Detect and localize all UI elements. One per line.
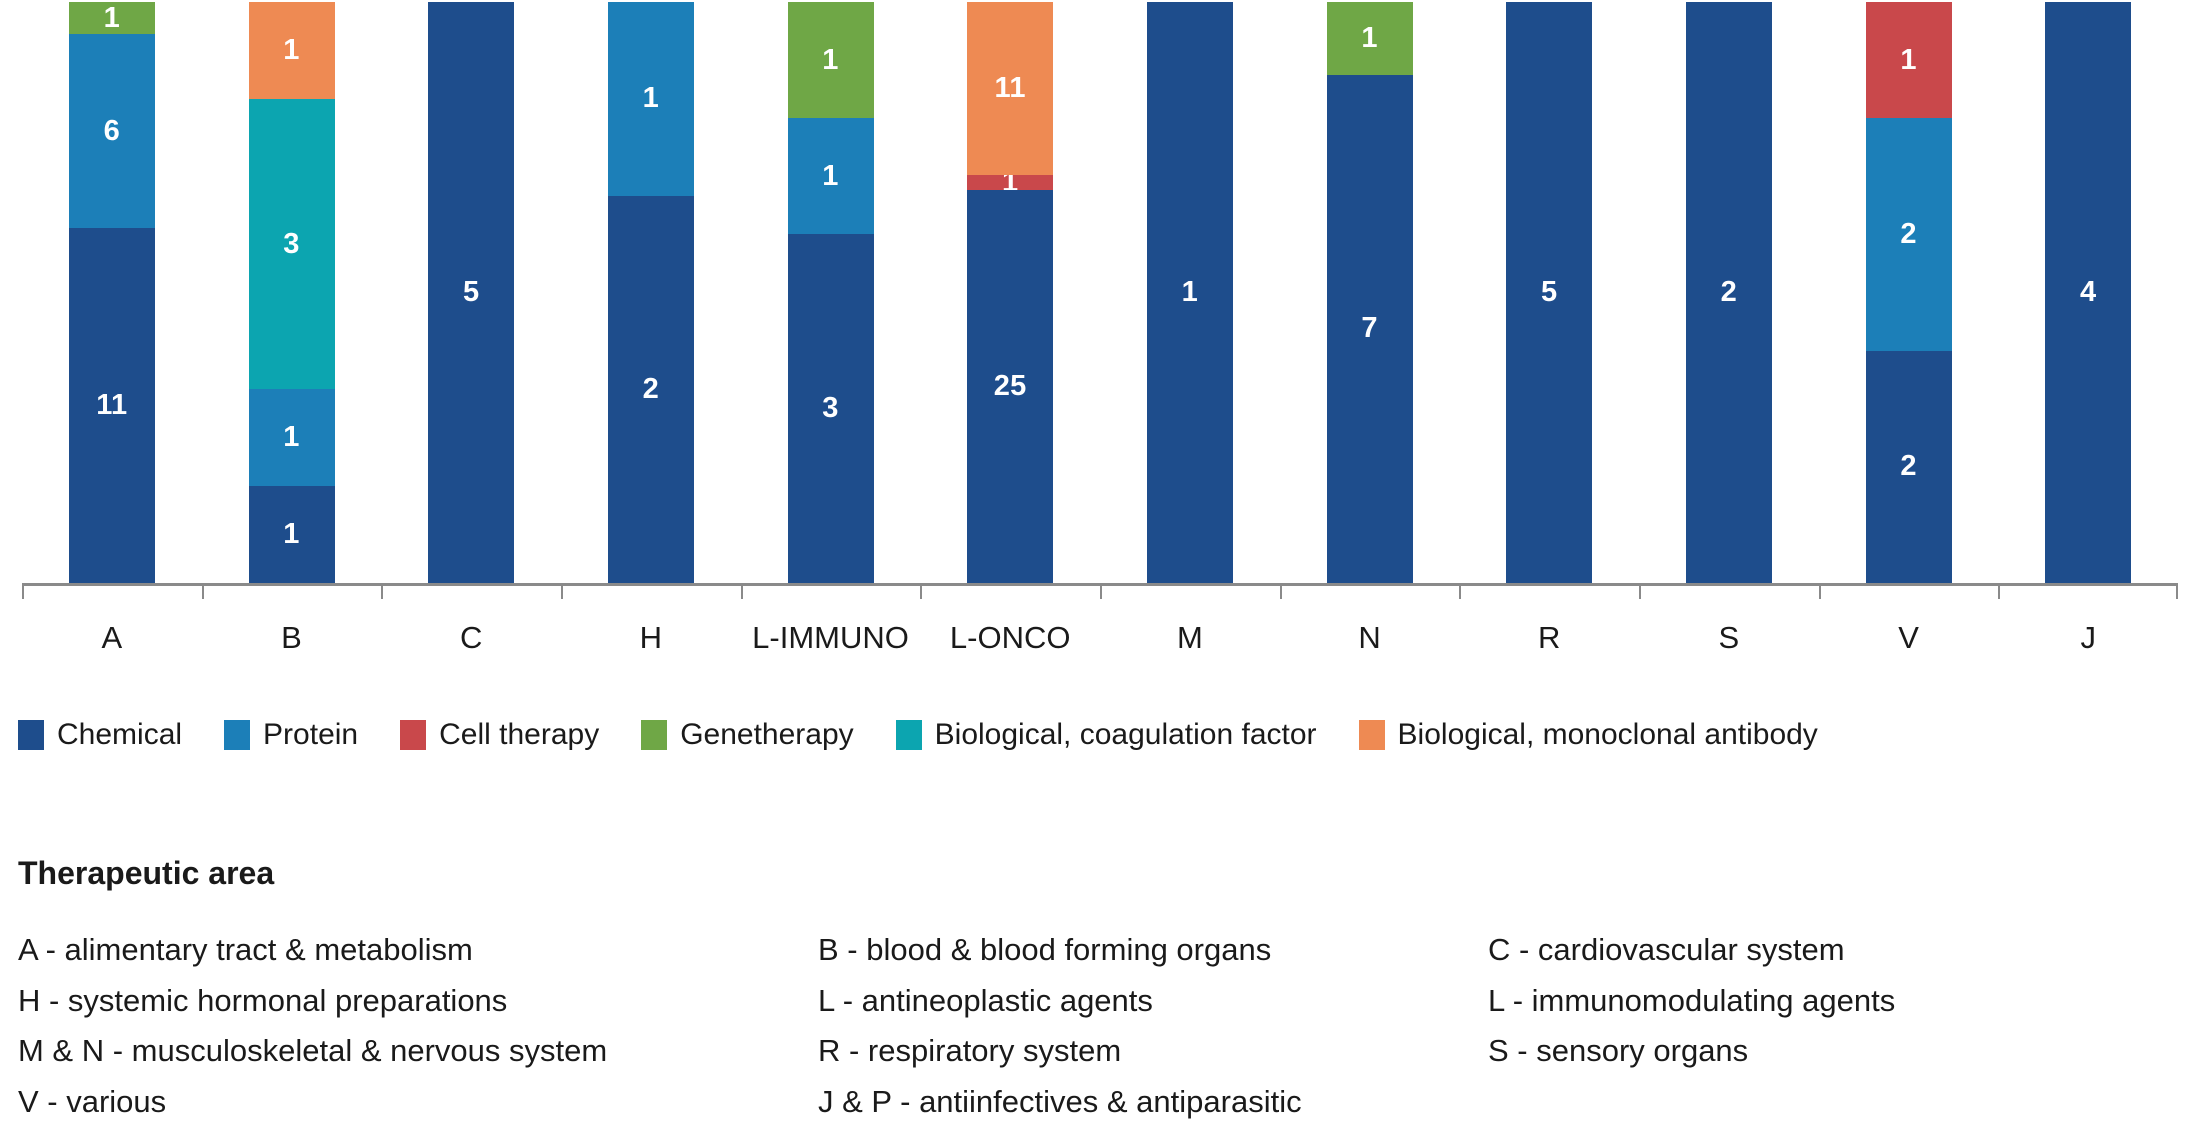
tick-cell (920, 583, 1100, 599)
category-label-c: C (381, 620, 561, 656)
legend-label: Biological, monoclonal antibody (1398, 718, 1818, 752)
tick-mark (1819, 583, 1821, 599)
bar-segment[interactable]: 5 (428, 2, 514, 583)
legend-item[interactable]: Biological, monoclonal antibody (1359, 718, 1818, 752)
tick-cell (202, 583, 382, 599)
tick-cell (1998, 583, 2178, 599)
footnote-entry: S - sensory organs (1488, 1031, 2188, 1071)
tick-mark (1459, 583, 1461, 599)
tick-cell (561, 583, 741, 599)
bar-slot-l-immuno: 113 (741, 2, 921, 583)
tick-mark (1998, 583, 2000, 599)
category-label-j: J (1998, 620, 2178, 656)
bar-slot-v: 122 (1819, 2, 1999, 583)
tick-cell (1639, 583, 1819, 599)
legend-item[interactable]: Cell therapy (400, 718, 599, 752)
stacked-bar-chart: 1611131151211311125117521224 ABCHL-IMMUN… (0, 0, 2200, 600)
bar-segment[interactable]: 2 (1686, 2, 1772, 583)
category-label-b: B (202, 620, 382, 656)
legend-swatch-icon (896, 720, 922, 750)
bar-l-immuno[interactable]: 113 (788, 2, 874, 583)
tick-cell (1819, 583, 1999, 599)
x-axis-ticks (22, 583, 2178, 599)
bar-segment[interactable]: 1 (69, 2, 155, 34)
bar-c[interactable]: 5 (428, 2, 514, 583)
bar-slot-n: 17 (1280, 2, 1460, 583)
footnote-entry: L - antineoplastic agents (818, 981, 1488, 1021)
chart-legend: ChemicalProteinCell therapyGenetherapyBi… (18, 718, 2188, 752)
tick-mark (1639, 583, 1641, 599)
bars-container: 1611131151211311125117521224 (22, 2, 2178, 583)
bar-segment[interactable]: 6 (69, 34, 155, 228)
tick-mark (22, 583, 24, 599)
bar-segment[interactable]: 2 (608, 196, 694, 583)
bar-segment[interactable]: 25 (967, 190, 1053, 583)
bar-segment[interactable]: 1 (1327, 2, 1413, 75)
footnote-entry: M & N - musculoskeletal & nervous system (18, 1031, 818, 1071)
bar-slot-r: 5 (1459, 2, 1639, 583)
bar-v[interactable]: 122 (1866, 2, 1952, 583)
footnote-entry: H - systemic hormonal preparations (18, 981, 818, 1021)
bar-l-onco[interactable]: 11125 (967, 2, 1053, 583)
category-label-n: N (1280, 620, 1460, 656)
bar-slot-c: 5 (381, 2, 561, 583)
bar-segment[interactable]: 1 (249, 389, 335, 486)
legend-label: Protein (263, 718, 358, 752)
tick-cell (381, 583, 561, 599)
footnote-entry: C - cardiovascular system (1488, 930, 2188, 970)
legend-swatch-icon (1359, 720, 1385, 750)
bar-slot-a: 1611 (22, 2, 202, 583)
legend-item[interactable]: Chemical (18, 718, 182, 752)
footnote-entry: L - immunomodulating agents (1488, 981, 2188, 1021)
category-label-a: A (22, 620, 202, 656)
category-label-r: R (1459, 620, 1639, 656)
bar-segment[interactable]: 2 (1866, 118, 1952, 350)
bar-segment[interactable]: 1 (788, 118, 874, 234)
category-label-l-immuno: L-IMMUNO (741, 620, 921, 656)
bar-slot-h: 12 (561, 2, 741, 583)
tick-cell (741, 583, 921, 599)
category-label-s: S (1639, 620, 1819, 656)
bar-b[interactable]: 1311 (249, 2, 335, 583)
bar-segment[interactable]: 5 (1506, 2, 1592, 583)
bar-slot-l-onco: 11125 (920, 2, 1100, 583)
footnote-entry: A - alimentary tract & metabolism (18, 930, 818, 970)
bar-r[interactable]: 5 (1506, 2, 1592, 583)
tick-mark (381, 583, 383, 599)
legend-item[interactable]: Biological, coagulation factor (896, 718, 1317, 752)
tick-mark (1280, 583, 1282, 599)
legend-item[interactable]: Genetherapy (641, 718, 853, 752)
tick-mark (561, 583, 563, 599)
category-label-h: H (561, 620, 741, 656)
bar-slot-m: 1 (1100, 2, 1280, 583)
bar-segment[interactable]: 7 (1327, 75, 1413, 583)
legend-label: Genetherapy (680, 718, 853, 752)
bar-h[interactable]: 12 (608, 2, 694, 583)
bar-slot-b: 1311 (202, 2, 382, 583)
category-label-v: V (1819, 620, 1999, 656)
bar-segment[interactable]: 1 (1866, 2, 1952, 118)
footnote-entry: R - respiratory system (818, 1031, 1488, 1071)
legend-label: Chemical (57, 718, 182, 752)
tick-mark (741, 583, 743, 599)
category-label-l-onco: L-ONCO (920, 620, 1100, 656)
bar-segment[interactable]: 1 (608, 2, 694, 196)
legend-item[interactable]: Protein (224, 718, 358, 752)
bar-segment[interactable]: 3 (249, 99, 335, 390)
tick-cell (1459, 583, 1639, 599)
bar-segment[interactable]: 11 (967, 2, 1053, 175)
bar-segment[interactable]: 2 (1866, 351, 1952, 583)
bar-slot-j: 4 (1998, 2, 2178, 583)
legend-label: Cell therapy (439, 718, 599, 752)
x-axis-category-labels: ABCHL-IMMUNOL-ONCOMNRSVJ (22, 620, 2178, 656)
bar-segment[interactable]: 1 (788, 2, 874, 118)
legend-swatch-icon (400, 720, 426, 750)
bar-slot-s: 2 (1639, 2, 1819, 583)
bar-segment[interactable]: 3 (788, 234, 874, 583)
tick-mark (202, 583, 204, 599)
footnote-legend-grid: A - alimentary tract & metabolismB - blo… (18, 930, 2188, 1122)
bar-segment[interactable]: 1 (249, 486, 335, 583)
tick-cell (1280, 583, 1460, 599)
bar-segment[interactable]: 11 (69, 228, 155, 583)
bar-n[interactable]: 17 (1327, 2, 1413, 583)
legend-swatch-icon (18, 720, 44, 750)
legend-label: Biological, coagulation factor (935, 718, 1317, 752)
bar-segment[interactable]: 1 (1147, 2, 1233, 583)
bar-segment[interactable]: 1 (249, 2, 335, 99)
tick-mark (920, 583, 922, 599)
legend-swatch-icon (641, 720, 667, 750)
footnote-heading: Therapeutic area (18, 855, 274, 892)
bar-s[interactable]: 2 (1686, 2, 1772, 583)
bar-m[interactable]: 1 (1147, 2, 1233, 583)
footnote-entry: B - blood & blood forming organs (818, 930, 1488, 970)
tick-mark (1100, 583, 1102, 599)
bar-segment[interactable]: 1 (967, 175, 1053, 191)
bar-segment[interactable]: 4 (2045, 2, 2131, 583)
bar-j[interactable]: 4 (2045, 2, 2131, 583)
tick-mark (2176, 583, 2178, 599)
tick-cell (1100, 583, 1280, 599)
tick-cell (22, 583, 202, 599)
legend-swatch-icon (224, 720, 250, 750)
category-label-m: M (1100, 620, 1280, 656)
bar-a[interactable]: 1611 (69, 2, 155, 583)
